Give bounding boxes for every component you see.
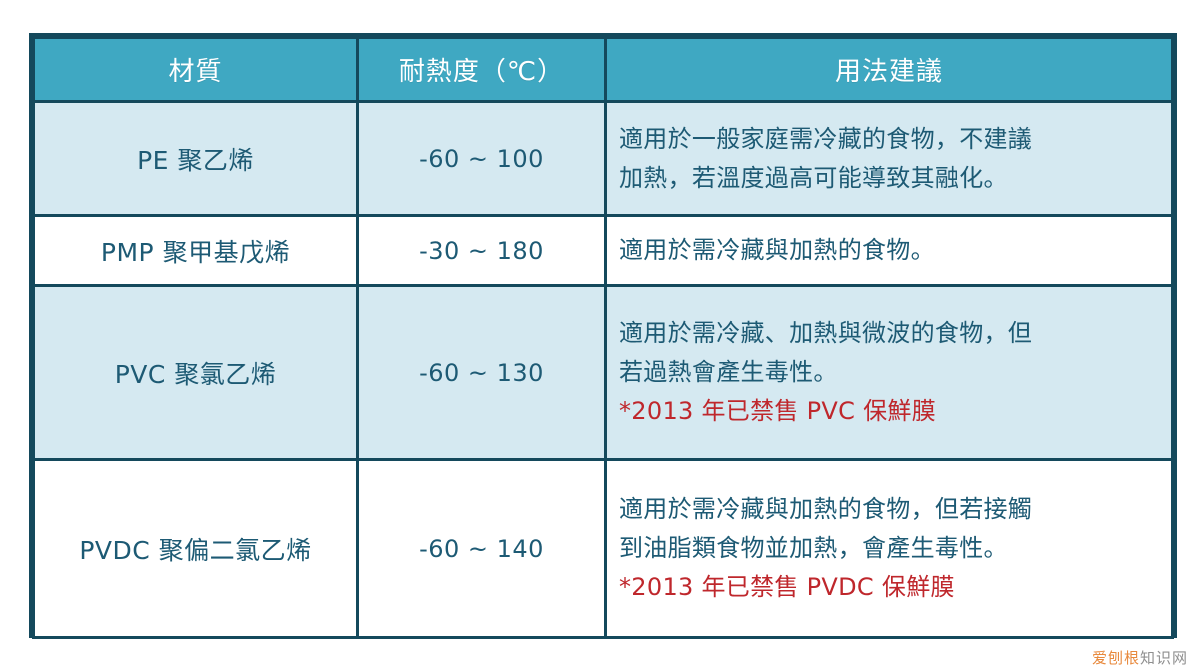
- desc-line: 適用於一般家庭需冷藏的食物，不建議: [619, 120, 1171, 159]
- table-row: PMP 聚甲基戊烯 -30 ~ 180 適用於需冷藏與加熱的食物。: [34, 216, 1173, 286]
- desc-line: 到油脂類食物並加熱，會產生毒性。: [619, 529, 1171, 568]
- cell-temperature: -60 ~ 100: [358, 102, 606, 216]
- warning-note: *2013 年已禁售 PVC 保鮮膜: [619, 392, 1171, 431]
- header-row: 材質 耐熱度（℃） 用法建議: [34, 38, 1173, 102]
- table-row: PE 聚乙烯 -60 ~ 100 適用於一般家庭需冷藏的食物，不建議 加熱，若溫…: [34, 102, 1173, 216]
- desc-line: 適用於需冷藏與加熱的食物，但若接觸: [619, 490, 1171, 529]
- watermark-suffix: 知识网: [1140, 649, 1188, 667]
- spec-table: 材質 耐熱度（℃） 用法建議 PE 聚乙烯 -60 ~ 100 適用於一般家庭需…: [32, 36, 1174, 639]
- plastic-wrap-spec-table: 材質 耐熱度（℃） 用法建議 PE 聚乙烯 -60 ~ 100 適用於一般家庭需…: [29, 33, 1177, 638]
- cell-usage-advice: 適用於一般家庭需冷藏的食物，不建議 加熱，若溫度過高可能導致其融化。: [606, 102, 1173, 216]
- desc-line: 適用於需冷藏、加熱與微波的食物，但: [619, 314, 1171, 353]
- cell-usage-advice: 適用於需冷藏與加熱的食物，但若接觸 到油脂類食物並加熱，會產生毒性。 *2013…: [606, 460, 1173, 638]
- page-root: 材質 耐熱度（℃） 用法建議 PE 聚乙烯 -60 ~ 100 適用於一般家庭需…: [0, 0, 1200, 672]
- desc-line: 若過熱會產生毒性。: [619, 353, 1171, 392]
- table-body: PE 聚乙烯 -60 ~ 100 適用於一般家庭需冷藏的食物，不建議 加熱，若溫…: [34, 102, 1173, 638]
- cell-material: PE 聚乙烯: [34, 102, 358, 216]
- column-header-heat-resistance: 耐熱度（℃）: [358, 38, 606, 102]
- cell-material: PMP 聚甲基戊烯: [34, 216, 358, 286]
- cell-temperature: -30 ~ 180: [358, 216, 606, 286]
- table-header: 材質 耐熱度（℃） 用法建議: [34, 38, 1173, 102]
- table-row: PVDC 聚偏二氯乙烯 -60 ~ 140 適用於需冷藏與加熱的食物，但若接觸 …: [34, 460, 1173, 638]
- site-watermark: 爱刨根知识网: [1092, 647, 1188, 668]
- table-row: PVC 聚氯乙烯 -60 ~ 130 適用於需冷藏、加熱與微波的食物，但 若過熱…: [34, 286, 1173, 460]
- desc-line: 加熱，若溫度過高可能導致其融化。: [619, 159, 1171, 198]
- cell-usage-advice: 適用於需冷藏、加熱與微波的食物，但 若過熱會產生毒性。 *2013 年已禁售 P…: [606, 286, 1173, 460]
- cell-temperature: -60 ~ 140: [358, 460, 606, 638]
- watermark-brand: 爱刨根: [1092, 649, 1140, 667]
- cell-temperature: -60 ~ 130: [358, 286, 606, 460]
- column-header-usage-advice: 用法建議: [606, 38, 1173, 102]
- warning-note: *2013 年已禁售 PVDC 保鮮膜: [619, 568, 1171, 607]
- desc-line: 適用於需冷藏與加熱的食物。: [619, 231, 1171, 270]
- cell-usage-advice: 適用於需冷藏與加熱的食物。: [606, 216, 1173, 286]
- cell-material: PVDC 聚偏二氯乙烯: [34, 460, 358, 638]
- cell-material: PVC 聚氯乙烯: [34, 286, 358, 460]
- column-header-material: 材質: [34, 38, 358, 102]
